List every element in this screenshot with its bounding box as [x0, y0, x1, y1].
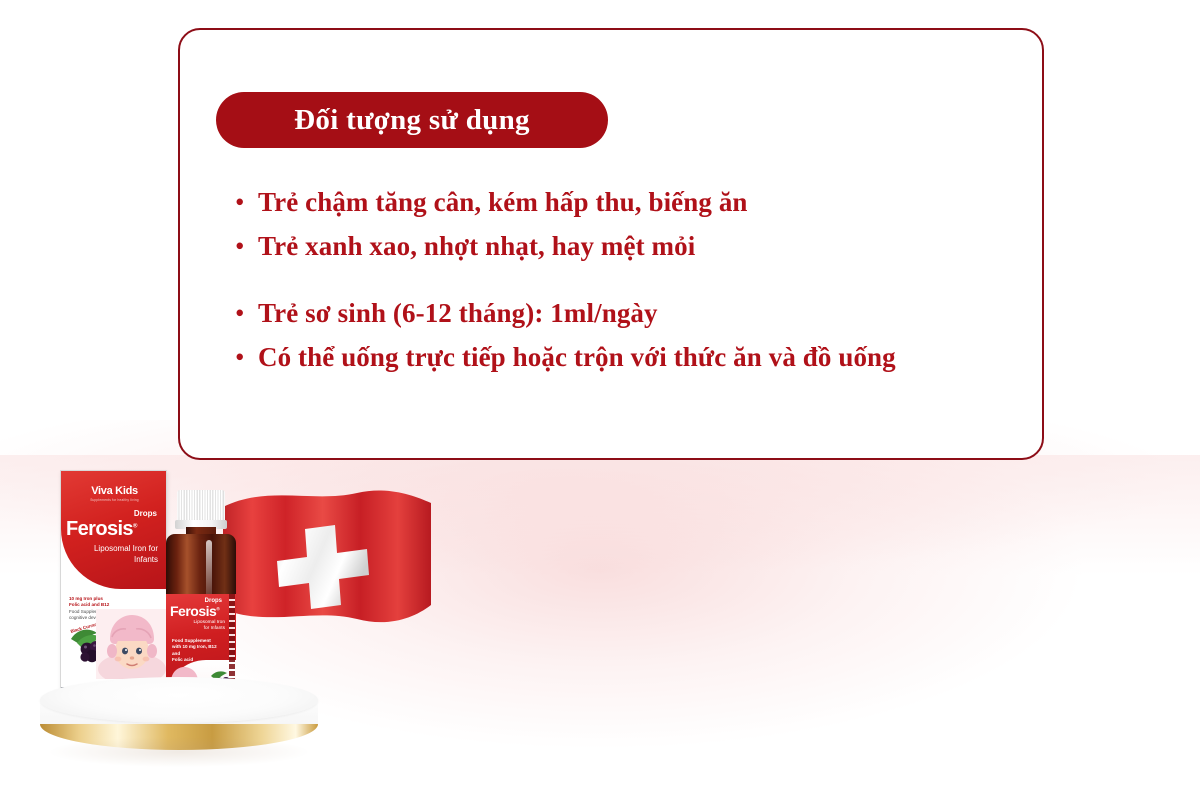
list-item: • Trẻ sơ sinh (6-12 tháng): 1ml/ngày [232, 293, 1032, 334]
list-item-label: Trẻ chậm tăng cân, kém hấp thu, biếng ăn [258, 182, 748, 223]
bottle-subtitle: Liposomal Iron for Infants [171, 620, 225, 632]
list-item: • Có thể uống trực tiếp hoặc trộn với th… [232, 337, 1032, 378]
list-item: • Trẻ xanh xao, nhợt nhạt, hay mệt mỏi [232, 226, 1032, 267]
bullet-marker-icon: • [232, 293, 258, 334]
box-brand-name: Ferosis® [66, 518, 166, 541]
swiss-flag-icon [217, 477, 437, 647]
product-scene: Viva Kids Supplements for healthy living… [12, 455, 452, 785]
bullet-group-dosage: • Trẻ sơ sinh (6-12 tháng): 1ml/ngày • C… [232, 293, 1032, 378]
podium-top [40, 677, 318, 723]
brand-logo: Viva Kids Supplements for healthy living [61, 485, 167, 502]
benefits-list: • Trẻ chậm tăng cân, kém hấp thu, biếng … [232, 182, 1032, 381]
list-item-label: Có thể uống trực tiếp hoặc trộn với thức… [258, 337, 896, 378]
bullet-marker-icon: • [232, 226, 258, 267]
section-title-text: Đối tượng sử dụng [294, 104, 530, 137]
bullet-group-target-audience: • Trẻ chậm tăng cân, kém hấp thu, biếng … [232, 182, 1032, 267]
bullet-marker-icon: • [232, 182, 258, 223]
box-brand-text: Ferosis [66, 518, 133, 540]
section-title-badge: Đối tượng sử dụng [216, 92, 608, 148]
bottle-claim-2: with 10 mg Iron, B12 and [172, 644, 217, 655]
bottle-claim-3: Folic acid [172, 657, 193, 662]
podium-shadow [50, 737, 308, 767]
registered-mark-icon: ® [133, 523, 137, 529]
bottle-subtitle-line-1: Liposomal Iron [194, 620, 225, 625]
bottle-brand-name: Ferosis® [170, 603, 232, 619]
bottle-subtitle-line-2: for Infants [204, 626, 225, 631]
box-subtitle: Liposomal Iron for Infants [70, 543, 158, 565]
baby-photo [96, 609, 166, 679]
bullet-marker-icon: • [232, 337, 258, 378]
product-box: Viva Kids Supplements for healthy living… [60, 470, 167, 710]
bottle-brand-text: Ferosis [170, 603, 216, 619]
list-item: • Trẻ chậm tăng cân, kém hấp thu, biếng … [232, 182, 1032, 223]
bottle-claim-1: Food Supplement [172, 638, 211, 643]
registered-mark-icon: ® [216, 606, 219, 611]
list-item-label: Trẻ sơ sinh (6-12 tháng): 1ml/ngày [258, 293, 658, 334]
box-drops-label: Drops [134, 509, 157, 518]
list-item-label: Trẻ xanh xao, nhợt nhạt, hay mệt mỏi [258, 226, 695, 267]
display-podium [40, 677, 318, 769]
brand-logo-tagline: Supplements for healthy living [61, 498, 167, 502]
brand-logo-main: Viva Kids [61, 485, 167, 497]
bottle-claims: Food Supplement with 10 mg Iron, B12 and… [172, 638, 222, 663]
